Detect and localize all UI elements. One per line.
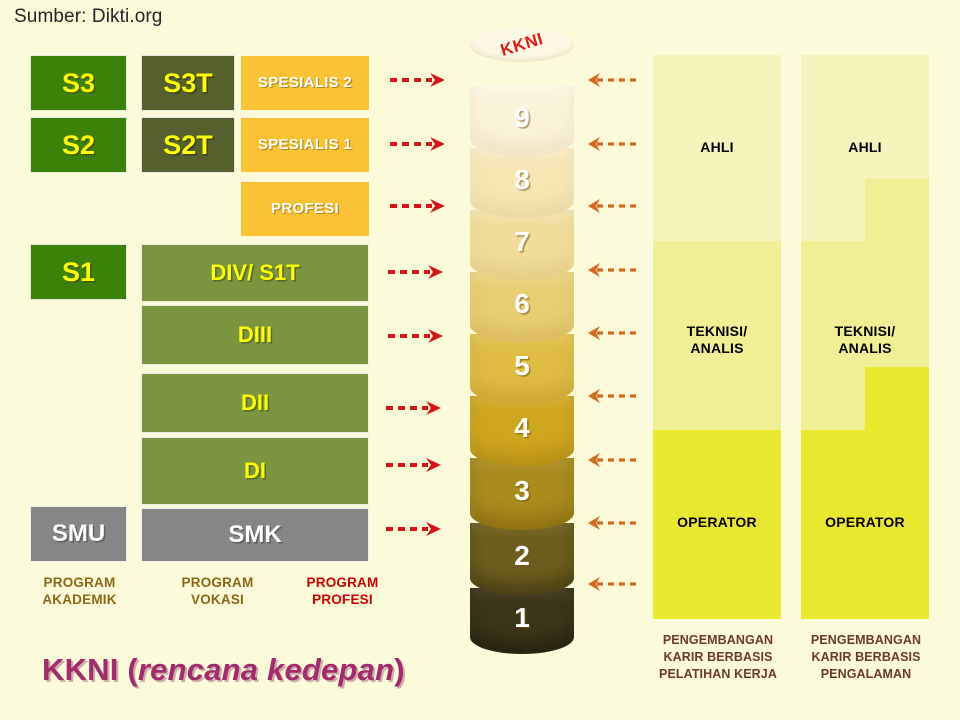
label-training-ahli: AHLI xyxy=(653,139,781,156)
career-ladder-experience: AHLI TEKNISI/ ANALIS OPERATOR xyxy=(801,55,929,620)
edubox-s2t[interactable]: S2T xyxy=(141,117,235,173)
kkni-level-1-label: 1 xyxy=(514,602,530,634)
band-training-9[interactable] xyxy=(653,556,781,619)
caption-career-experience: PENGEMBANGAN KARIR BERBASIS PENGALAMAN xyxy=(796,632,936,683)
bottom-title-suffix: ) xyxy=(394,652,405,687)
edubox-s3t[interactable]: S3T xyxy=(141,55,235,111)
arrow-orange-5 xyxy=(587,325,639,341)
kkni-level-7-label: 7 xyxy=(514,226,530,258)
kkni-level-8-label: 8 xyxy=(514,164,530,196)
arrow-red-8 xyxy=(386,521,442,537)
edubox-s2[interactable]: S2 xyxy=(30,117,127,173)
kkni-cap: KKNI xyxy=(470,28,574,62)
kkni-level-2-label: 2 xyxy=(514,540,530,572)
edubox-spesialis-1[interactable]: SPESIALIS 1 xyxy=(240,117,370,173)
band-experience-1[interactable] xyxy=(801,55,929,118)
bottom-title: KKNI (rencana kedepan) xyxy=(42,652,405,688)
kkni-column: 1 2 3 4 5 6 7 8 9 KKNI xyxy=(470,28,574,638)
edubox-div-s1t[interactable]: DIV/ S1T xyxy=(141,244,369,302)
label-experience-operator: OPERATOR xyxy=(801,514,929,531)
diagram-canvas: Sumber: Dikti.org S3 S2 S1 SMU PROGRAM A… xyxy=(0,0,960,720)
arrow-orange-9 xyxy=(587,576,639,592)
arrow-orange-6 xyxy=(587,388,639,404)
edubox-smu[interactable]: SMU xyxy=(30,506,127,562)
band-training-1[interactable] xyxy=(653,55,781,118)
arrow-orange-3 xyxy=(587,198,639,214)
kkni-level-6-label: 6 xyxy=(514,288,530,320)
kkni-level-3-label: 3 xyxy=(514,475,530,507)
arrow-red-2 xyxy=(390,136,446,152)
bottom-title-prefix: KKNI ( xyxy=(42,652,138,687)
career-ladder-training: AHLI TEKNISI/ ANALIS OPERATOR xyxy=(653,55,781,620)
arrow-orange-2 xyxy=(587,136,639,152)
arrow-orange-8 xyxy=(587,515,639,531)
caption-program-akademik: PROGRAM AKADEMIK xyxy=(22,575,137,609)
kkni-level-4[interactable]: 4 xyxy=(470,396,574,466)
edubox-dii[interactable]: DII xyxy=(141,373,369,433)
kkni-level-1[interactable]: 1 xyxy=(470,588,574,654)
label-training-teknisi: TEKNISI/ ANALIS xyxy=(653,323,781,357)
band-experience-6[interactable] xyxy=(801,367,929,431)
arrow-red-6 xyxy=(386,400,442,416)
arrow-red-1 xyxy=(390,72,446,88)
arrow-red-7 xyxy=(386,457,442,473)
kkni-level-4-label: 4 xyxy=(514,412,530,444)
kkni-cap-label: KKNI xyxy=(498,29,546,61)
kkni-level-3[interactable]: 3 xyxy=(470,458,574,530)
edubox-di[interactable]: DI xyxy=(141,437,369,505)
arrow-red-4 xyxy=(388,264,444,280)
band-experience-3-half xyxy=(865,179,929,241)
caption-program-profesi: PROGRAM PROFESI xyxy=(285,575,400,609)
kkni-level-9[interactable]: 9 xyxy=(470,86,574,156)
source-note: Sumber: Dikti.org xyxy=(14,6,162,28)
band-training-3[interactable] xyxy=(653,179,781,242)
label-experience-ahli: AHLI xyxy=(801,139,929,156)
arrow-orange-7 xyxy=(587,452,639,468)
edubox-s1[interactable]: S1 xyxy=(30,244,127,300)
arrow-orange-4 xyxy=(587,262,639,278)
band-training-7[interactable] xyxy=(653,430,781,494)
kkni-level-8[interactable]: 8 xyxy=(470,148,574,218)
edubox-diii[interactable]: DIII xyxy=(141,305,369,365)
kkni-level-6[interactable]: 6 xyxy=(470,272,574,342)
caption-program-vokasi: PROGRAM VOKASI xyxy=(160,575,275,609)
kkni-level-2[interactable]: 2 xyxy=(470,523,574,595)
kkni-level-5-label: 5 xyxy=(514,350,530,382)
kkni-level-9-label: 9 xyxy=(514,102,530,134)
kkni-level-7[interactable]: 7 xyxy=(470,210,574,280)
edubox-smk[interactable]: SMK xyxy=(141,508,369,562)
label-training-operator: OPERATOR xyxy=(653,514,781,531)
band-experience-9[interactable] xyxy=(801,556,929,619)
edubox-profesi[interactable]: PROFESI xyxy=(240,181,370,237)
band-experience-7[interactable] xyxy=(801,430,929,494)
caption-career-training: PENGEMBANGAN KARIR BERBASIS PELATIHAN KE… xyxy=(648,632,788,683)
band-experience-6-half xyxy=(865,367,929,430)
arrow-red-5 xyxy=(388,328,444,344)
label-experience-teknisi: TEKNISI/ ANALIS xyxy=(801,323,929,357)
edubox-s3[interactable]: S3 xyxy=(30,55,127,111)
arrow-red-3 xyxy=(390,198,446,214)
kkni-level-5[interactable]: 5 xyxy=(470,334,574,404)
band-experience-3[interactable] xyxy=(801,179,929,242)
bottom-title-emphasis: rencana kedepan xyxy=(138,652,394,687)
arrow-orange-1 xyxy=(587,72,639,88)
band-training-4[interactable] xyxy=(653,241,781,305)
edubox-spesialis-2[interactable]: SPESIALIS 2 xyxy=(240,55,370,111)
band-experience-4[interactable] xyxy=(801,241,929,305)
band-training-6[interactable] xyxy=(653,367,781,431)
